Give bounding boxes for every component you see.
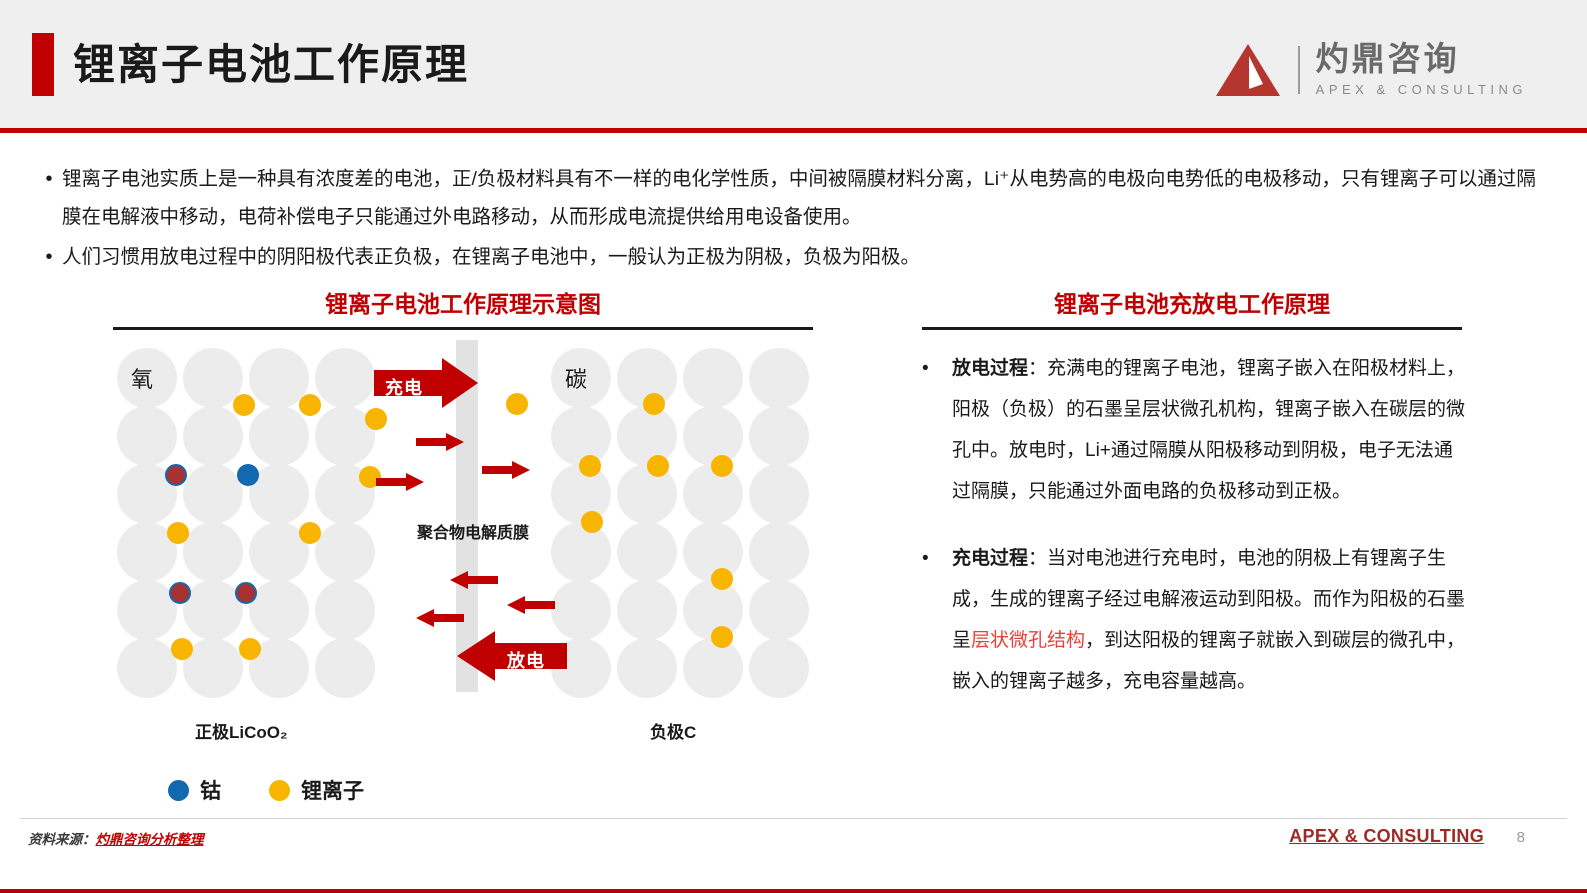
cobalt-selected-marker — [235, 582, 257, 604]
circle-marker-icon — [269, 780, 290, 801]
lithium-ion-marker — [299, 394, 321, 416]
left-lattice-label: 氧 — [131, 362, 153, 394]
paragraph-charge: • 充电过程：当对电池进行充电时，电池的阴极上有锂离子生成，生成的锂离子经过电解… — [922, 538, 1467, 702]
discharge-arrow-label: 放电 — [507, 647, 545, 673]
lattice-circle — [749, 406, 809, 466]
lattice-circle — [551, 522, 611, 582]
brand-logo: 灼鼎咨询 APEX & CONSULTING — [1214, 36, 1527, 104]
lattice-circle — [315, 348, 375, 408]
lattice-circle — [683, 406, 743, 466]
right-text-column: • 放电过程：充满电的锂离子电池，锂离子嵌入在阳极材料上，阳极（负极）的石墨呈层… — [922, 348, 1467, 728]
logo-english-name: APEX & CONSULTING — [1316, 80, 1527, 100]
bullet-glyph-icon: • — [36, 238, 62, 276]
lattice-circle — [749, 638, 809, 698]
lithium-ion-marker — [239, 638, 261, 660]
lithium-ion-marker — [643, 393, 665, 415]
paragraph-charge-text: 充电过程：当对电池进行充电时，电池的阴极上有锂离子生成，生成的锂离子经过电解液运… — [952, 538, 1467, 702]
ion-flow-arrow-right-icon — [376, 473, 424, 491]
lattice-circle — [117, 638, 177, 698]
lattice-circle — [117, 580, 177, 640]
lithium-ion-marker — [167, 522, 189, 544]
diagram-legend: 钴 锂离子 — [168, 775, 364, 805]
page-title: 锂离子电池工作原理 — [73, 36, 469, 94]
lattice-circle — [749, 464, 809, 524]
lattice-circle — [315, 522, 375, 582]
paragraph-charge-highlight: 层状微孔结构 — [971, 630, 1085, 651]
intro-bullet-2-text: 人们习惯用放电过程中的阴阳极代表正负极，在锂离子电池中，一般认为正极为阴极，负极… — [62, 238, 1546, 276]
cobalt-marker — [237, 464, 259, 486]
triangle-logo-icon — [1214, 42, 1282, 98]
lithium-ion-marker — [233, 394, 255, 416]
right-section-heading: 锂离子电池充放电工作原理 — [922, 285, 1462, 330]
bullet-glyph-icon: • — [922, 538, 952, 579]
circle-marker-icon — [168, 780, 189, 801]
paragraph-charge-title: 充电过程 — [952, 548, 1028, 569]
lattice-circle — [749, 348, 809, 408]
lithium-ion-marker — [365, 408, 387, 430]
legend-item-lithium: 锂离子 — [269, 775, 364, 805]
cobalt-selected-marker — [169, 582, 191, 604]
lattice-circle — [749, 522, 809, 582]
lattice-circle — [617, 522, 677, 582]
legend-item-cobalt: 钴 — [168, 775, 221, 805]
lattice-circle — [683, 348, 743, 408]
lattice-circle — [315, 638, 375, 698]
page-number: 8 — [1517, 829, 1525, 846]
source-note: 资料来源：灼鼎咨询分析整理 — [28, 828, 204, 848]
left-section-heading: 锂离子电池工作原理示意图 — [113, 285, 813, 330]
legend-label-lithium: 锂离子 — [301, 775, 364, 805]
lithium-ion-marker — [711, 568, 733, 590]
lattice-circle — [617, 464, 677, 524]
right-lattice-label: 碳 — [565, 362, 587, 394]
paragraph-charge-separator: ： — [1028, 548, 1047, 569]
ion-flow-arrow-left-icon — [416, 609, 464, 627]
legend-label-cobalt: 钴 — [200, 775, 221, 805]
lattice-circle — [315, 580, 375, 640]
lithium-ion-marker — [579, 455, 601, 477]
lithium-ion-marker — [581, 511, 603, 533]
cobalt-selected-marker — [165, 464, 187, 486]
intro-bullet-1: • 锂离子电池实质上是一种具有浓度差的电池，正/负极材料具有不一样的电化学性质，… — [36, 160, 1546, 236]
lithium-ion-marker — [299, 522, 321, 544]
ion-flow-arrow-left-icon — [450, 571, 498, 589]
source-label: 资料来源： — [28, 832, 96, 847]
paragraph-discharge-separator: ： — [1028, 358, 1047, 379]
ion-flow-arrow-right-icon — [482, 461, 530, 479]
logo-chinese-name: 灼鼎咨询 — [1316, 40, 1527, 78]
paragraph-discharge-text: 放电过程：充满电的锂离子电池，锂离子嵌入在阳极材料上，阳极（负极）的石墨呈层状微… — [952, 348, 1467, 512]
lithium-ion-marker — [506, 393, 528, 415]
paragraph-discharge-body: 充满电的锂离子电池，锂离子嵌入在阳极材料上，阳极（负极）的石墨呈层状微孔机构，锂… — [952, 358, 1465, 502]
header-divider-rule — [0, 128, 1587, 133]
anode-label: 正极LiCoO₂ — [195, 718, 288, 743]
title-accent-bar — [32, 33, 54, 96]
bullet-glyph-icon: • — [922, 348, 952, 389]
lattice-circle — [617, 580, 677, 640]
lattice-circle — [551, 406, 611, 466]
intro-bullet-2: • 人们习惯用放电过程中的阴阳极代表正负极，在锂离子电池中，一般认为正极为阴极，… — [36, 238, 1546, 276]
charge-arrow-label: 充电 — [385, 374, 423, 400]
footer-brand: APEX & CONSULTING — [1289, 826, 1484, 847]
lattice-circle — [617, 638, 677, 698]
lithium-ion-marker — [711, 626, 733, 648]
intro-bullet-list: • 锂离子电池实质上是一种具有浓度差的电池，正/负极材料具有不一样的电化学性质，… — [36, 160, 1546, 278]
ion-flow-arrow-left-icon — [507, 596, 555, 614]
membrane-label: 聚合物电解质膜 — [403, 519, 543, 543]
battery-schematic-diagram: 氧 聚合物电解质膜 充电 放电 — [113, 336, 813, 736]
paragraph-discharge-title: 放电过程 — [952, 358, 1028, 379]
lattice-circle — [249, 406, 309, 466]
lattice-circle — [117, 406, 177, 466]
logo-text-block: 灼鼎咨询 APEX & CONSULTING — [1316, 40, 1527, 100]
paragraph-discharge: • 放电过程：充满电的锂离子电池，锂离子嵌入在阳极材料上，阳极（负极）的石墨呈层… — [922, 348, 1467, 512]
lattice-circle — [183, 522, 243, 582]
lattice-circle — [749, 580, 809, 640]
lithium-ion-marker — [647, 455, 669, 477]
bottom-accent-bar — [0, 889, 1587, 893]
lattice-circle — [183, 580, 243, 640]
lithium-ion-marker — [171, 638, 193, 660]
cathode-label: 负极C — [650, 718, 696, 743]
footer-divider-rule — [20, 818, 1567, 819]
lattice-circle — [183, 464, 243, 524]
lattice-circle — [249, 580, 309, 640]
logo-divider — [1298, 46, 1300, 94]
ion-flow-arrow-right-icon — [416, 433, 464, 451]
lattice-circle — [183, 406, 243, 466]
source-link[interactable]: 灼鼎咨询分析整理 — [96, 832, 204, 847]
lattice-circle — [617, 406, 677, 466]
bullet-glyph-icon: • — [36, 160, 62, 198]
intro-bullet-1-text: 锂离子电池实质上是一种具有浓度差的电池，正/负极材料具有不一样的电化学性质，中间… — [62, 160, 1546, 236]
lithium-ion-marker — [711, 455, 733, 477]
lattice-circle — [683, 638, 743, 698]
